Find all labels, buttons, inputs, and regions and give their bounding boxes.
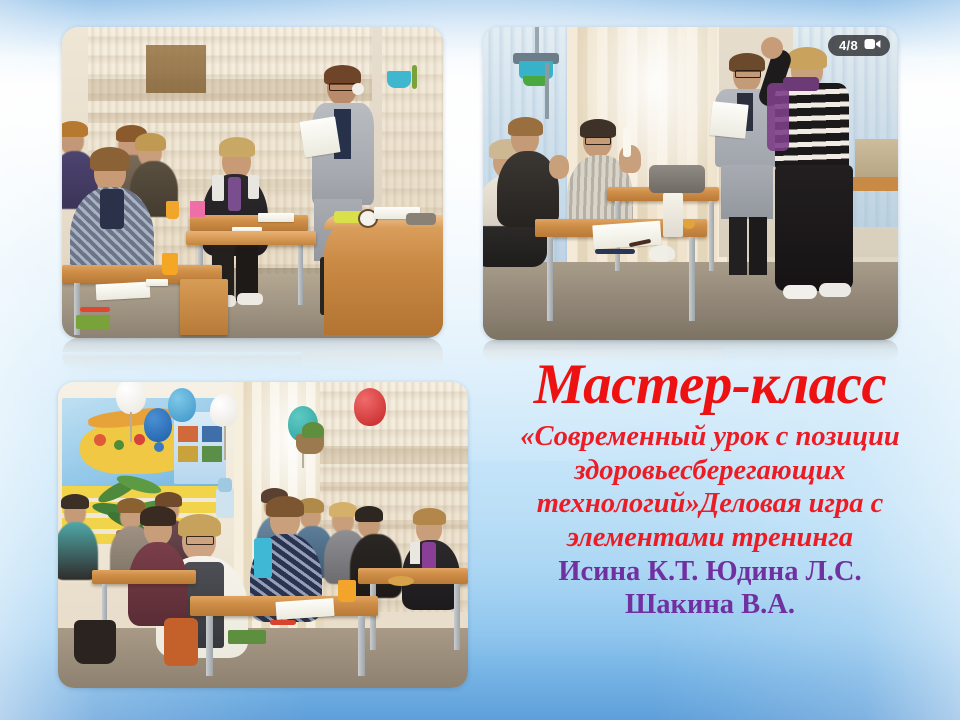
subtitle-line-2: здоровьесберегающих: [480, 454, 940, 488]
author-line-1: Исина К.Т. Юдина Л.С.: [480, 555, 940, 588]
presentation-slide: 4/8: [0, 0, 960, 720]
slide-counter-badge[interactable]: 4/8: [828, 35, 890, 56]
subtitle-line-3: технологий»Деловая игра с: [480, 487, 940, 521]
slide-authors: Исина К.Т. Юдина Л.С. Шакина В.А.: [480, 555, 940, 622]
video-camera-icon: [864, 38, 881, 52]
photo-top-left: [62, 27, 443, 338]
slide-subtitle: «Современный урок с позиции здоровьесбер…: [480, 420, 940, 555]
slide-text-block: Мастер-класс «Современный урок с позиции…: [480, 356, 940, 621]
photo-bottom-left: [58, 382, 468, 688]
subtitle-line-1: «Современный урок с позиции: [480, 420, 940, 454]
slide-counter-label: 4/8: [839, 39, 858, 52]
author-line-2: Шакина В.А.: [480, 588, 940, 621]
subtitle-line-4: элементами тренинга: [480, 521, 940, 555]
photo-top-right: 4/8: [483, 27, 898, 340]
page-title: Мастер-класс: [480, 356, 940, 414]
